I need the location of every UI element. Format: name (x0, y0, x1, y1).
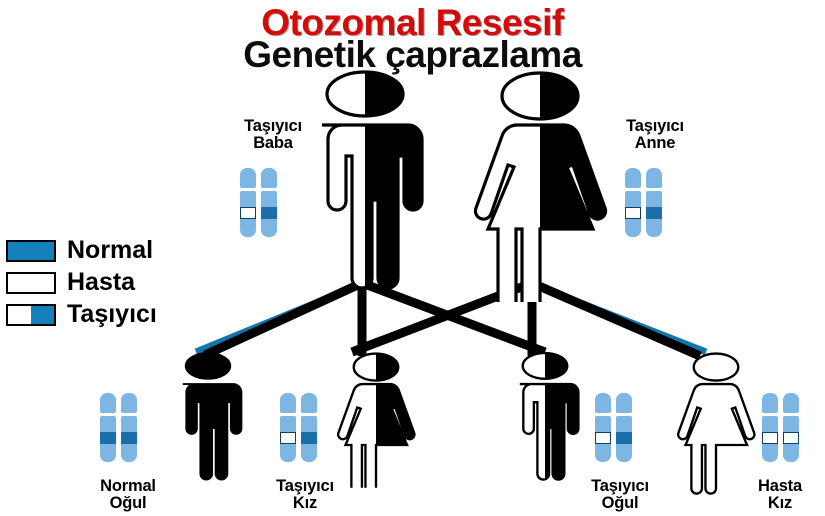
chromosome (616, 393, 632, 462)
chromosome (625, 168, 641, 237)
chromosome (100, 393, 116, 462)
chromosome (783, 393, 799, 462)
legend-label-normal: Normal (67, 238, 153, 263)
child-4-label-line2: Kız (735, 495, 825, 512)
legend-item-normal: Normal (6, 236, 157, 265)
chromosome (301, 393, 317, 462)
father-label: Taşıyıcı Baba (218, 118, 328, 153)
legend-label-hasta: Hasta (67, 270, 135, 295)
line-father-to-child-1-black (205, 283, 362, 355)
child-4-label-line1: Hasta (758, 477, 802, 495)
child-2-label-line2: Kız (250, 495, 360, 512)
chromosome (595, 393, 611, 462)
allele-band (762, 432, 778, 444)
chromosome (121, 393, 137, 462)
legend-swatch-normal (6, 240, 56, 262)
child-3-label-line1: Taşıyıcı (591, 477, 649, 495)
child-1-label: Normal Oğul (73, 478, 183, 513)
mother-label-line1: Taşıyıcı (626, 117, 684, 135)
line-mother-to-child-4-black (532, 283, 700, 356)
mother-figure (470, 72, 610, 287)
mother-label-line2: Anne (600, 135, 710, 152)
legend-item-tasiyici: Taşıyıcı (6, 300, 157, 329)
child-3-label-line2: Oğul (565, 495, 675, 512)
child-1-label-line1: Normal (100, 477, 156, 495)
allele-band (783, 432, 799, 444)
child-4-label: Hasta Kız (735, 478, 825, 513)
chromosome (762, 393, 778, 462)
allele-band (121, 432, 137, 444)
allele-band (100, 432, 116, 444)
child-1-label-line2: Oğul (73, 495, 183, 512)
child-4-chromosomes (762, 393, 799, 462)
allele-band (595, 432, 611, 444)
allele-band (280, 432, 296, 444)
mother-chromosomes (625, 168, 662, 237)
genetics-diagram: Otozomal Resesif Genetik çaprazlama (0, 0, 825, 516)
child-4-figure (668, 353, 764, 479)
allele-band (616, 432, 632, 444)
child-3-label: Taşıyıcı Oğul (565, 478, 675, 513)
child-2-label-line1: Taşıyıcı (276, 477, 334, 495)
child-3-figure (500, 353, 590, 479)
father-figure (300, 72, 430, 287)
father-label-line1: Taşıyıcı (244, 117, 302, 135)
father-label-line2: Baba (218, 135, 328, 152)
allele-band (625, 207, 641, 219)
allele-band (240, 207, 256, 219)
allele-band (261, 207, 277, 219)
chromosome (280, 393, 296, 462)
legend: Normal Hasta Taşıyıcı (6, 236, 157, 332)
child-1-chromosomes (100, 393, 137, 462)
legend-swatch-tasiyici (6, 304, 56, 326)
child-2-label: Taşıyıcı Kız (250, 478, 360, 513)
child-2-figure (328, 353, 424, 479)
legend-item-hasta: Hasta (6, 268, 157, 297)
child-3-chromosomes (595, 393, 632, 462)
mother-label: Taşıyıcı Anne (600, 118, 710, 153)
legend-swatch-hasta (6, 272, 56, 294)
chromosome (240, 168, 256, 237)
father-chromosomes (240, 168, 277, 237)
allele-band (301, 432, 317, 444)
legend-label-tasiyici: Taşıyıcı (67, 302, 157, 327)
allele-band (646, 207, 662, 219)
child-2-chromosomes (280, 393, 317, 462)
chromosome (261, 168, 277, 237)
chromosome (646, 168, 662, 237)
child-1-figure (163, 353, 253, 479)
